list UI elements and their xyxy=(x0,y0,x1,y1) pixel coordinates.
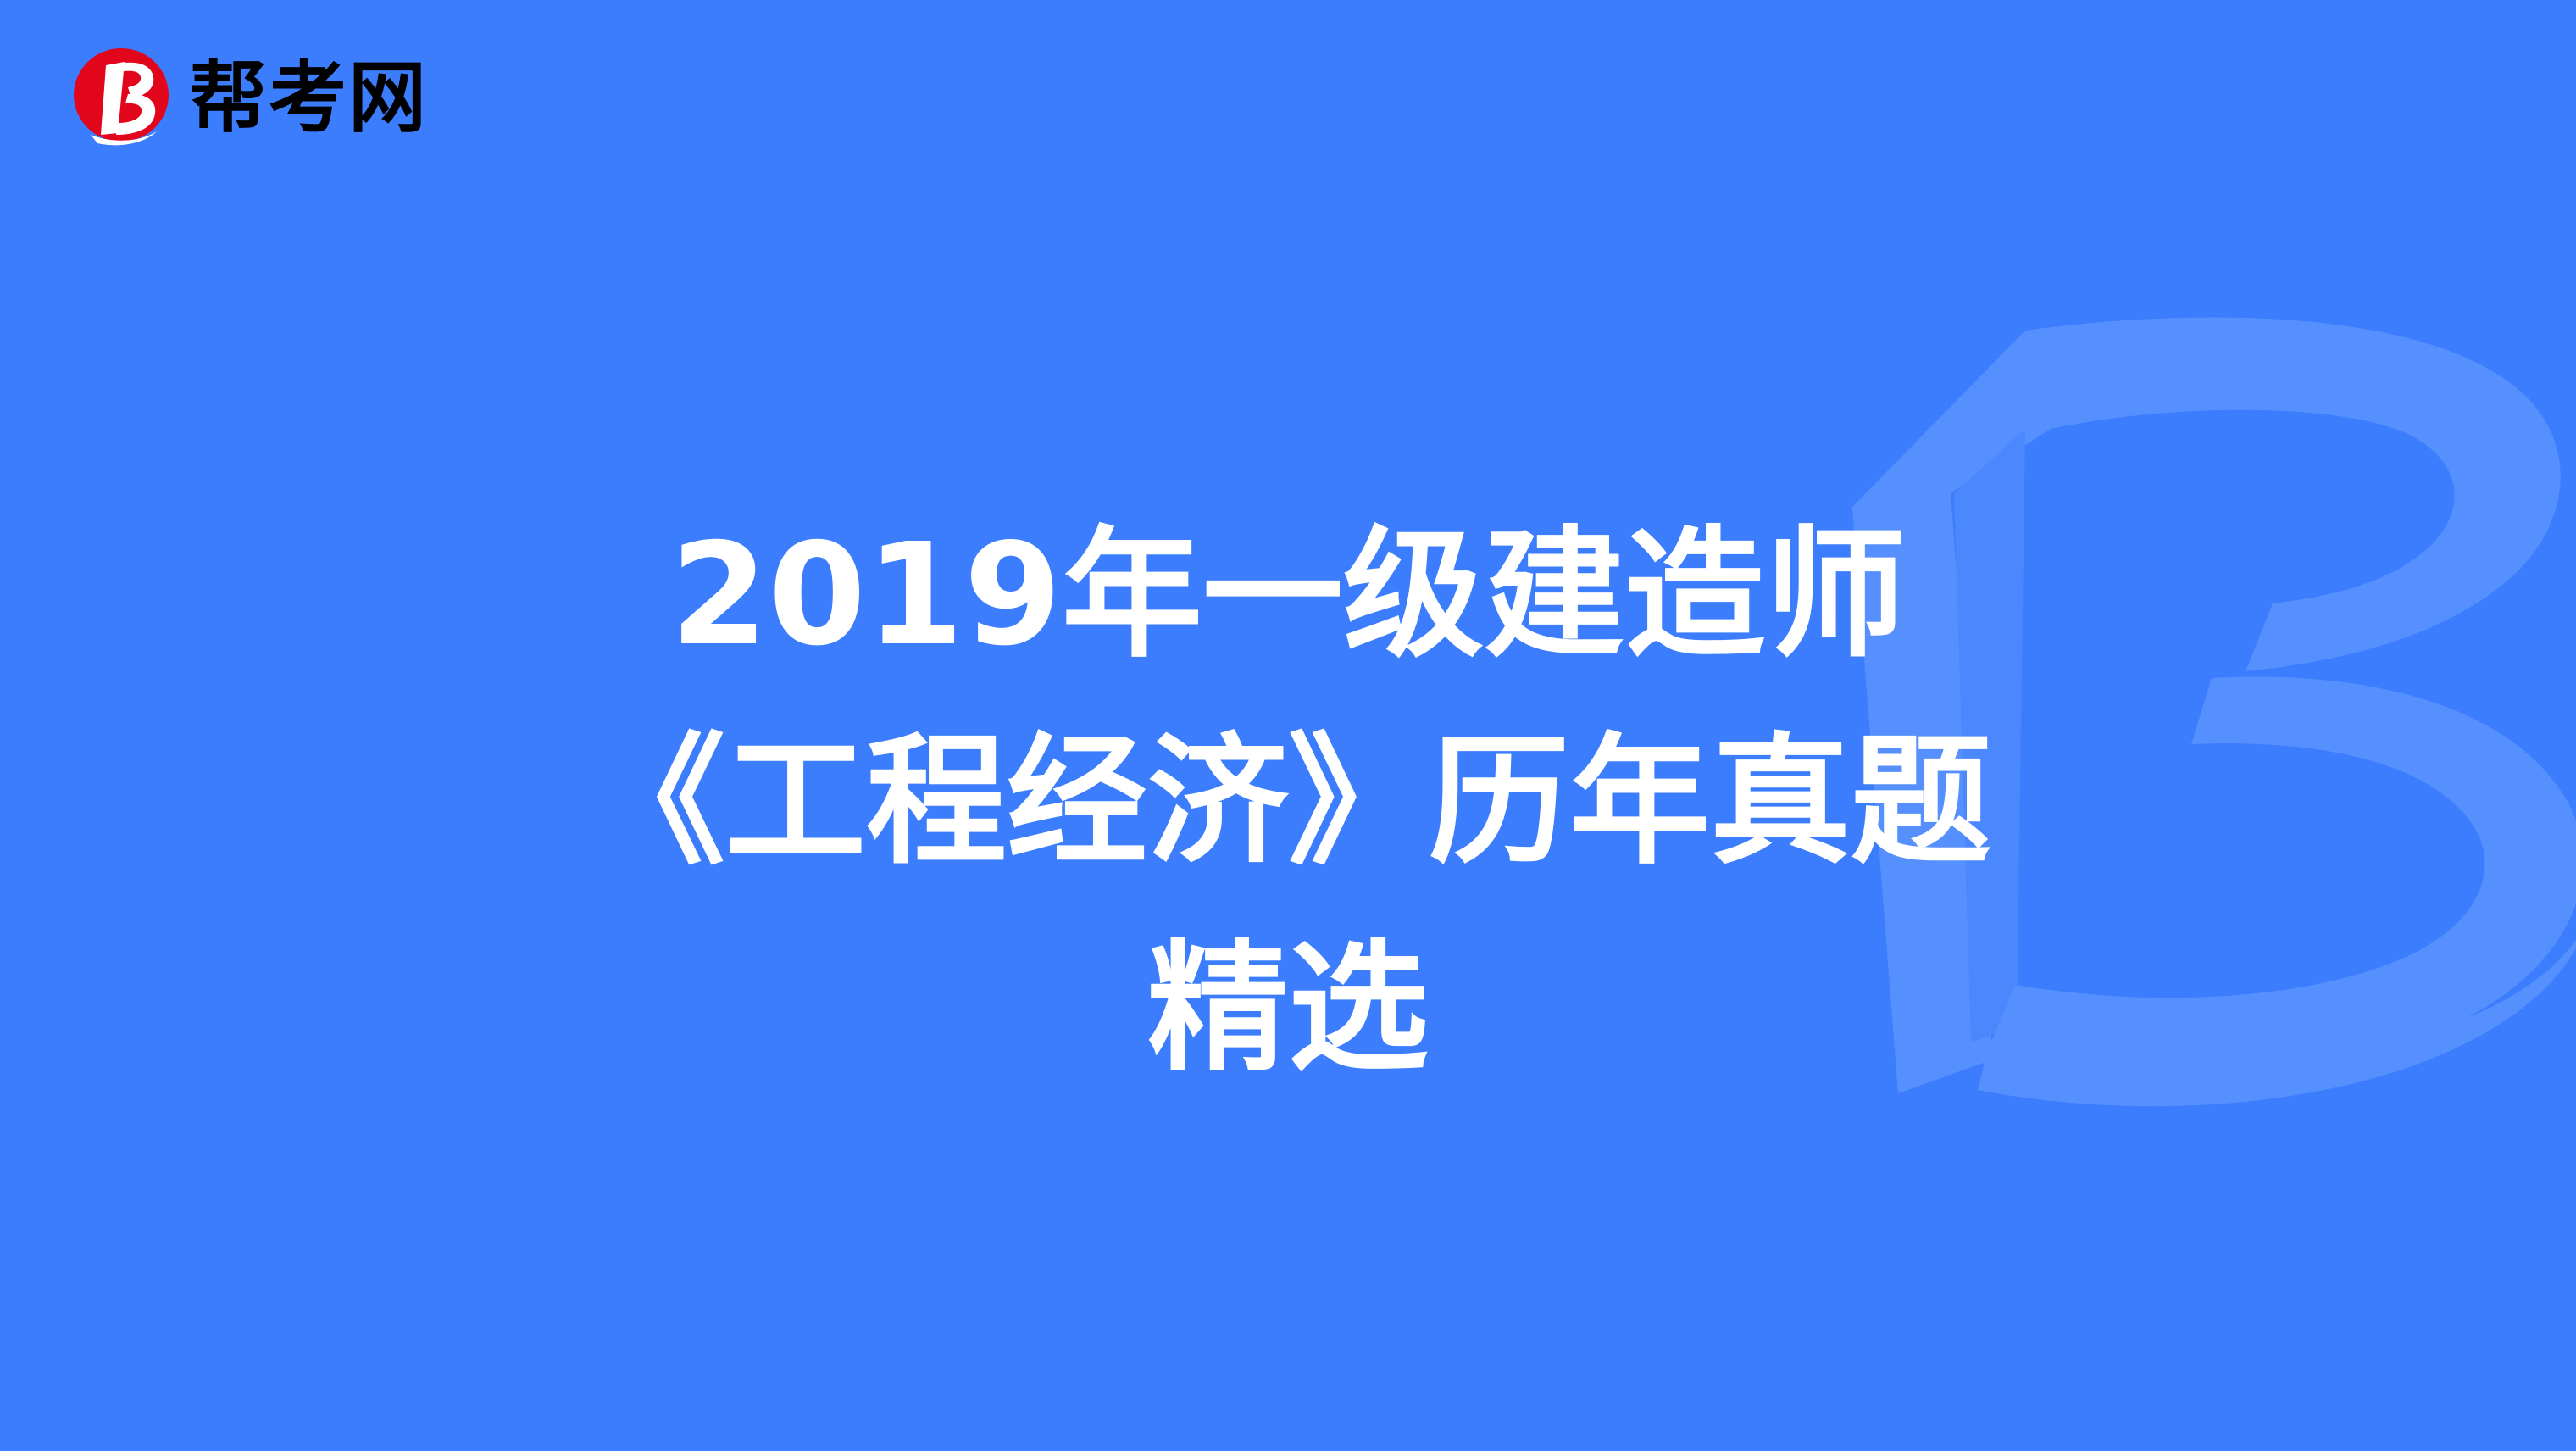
brand-wordmark: 帮考网 xyxy=(189,59,428,137)
brand-b-mark-icon xyxy=(72,47,170,147)
title-line-1: 2019年一级建造师 xyxy=(483,492,2093,699)
title-line-2: 《工程经济》历年真题 xyxy=(483,699,2093,906)
headline-container: 2019年一级建造师 《工程经济》历年真题 精选 xyxy=(0,398,2576,1207)
promo-banner: 帮考网 2019年一级建造师 《工程经济》历年真题 精选 xyxy=(0,0,2576,1451)
brand-logo[interactable]: 帮考网 xyxy=(72,47,428,147)
page-title: 2019年一级建造师 《工程经济》历年真题 精选 xyxy=(483,492,2093,1113)
title-line-3: 精选 xyxy=(483,906,2093,1113)
